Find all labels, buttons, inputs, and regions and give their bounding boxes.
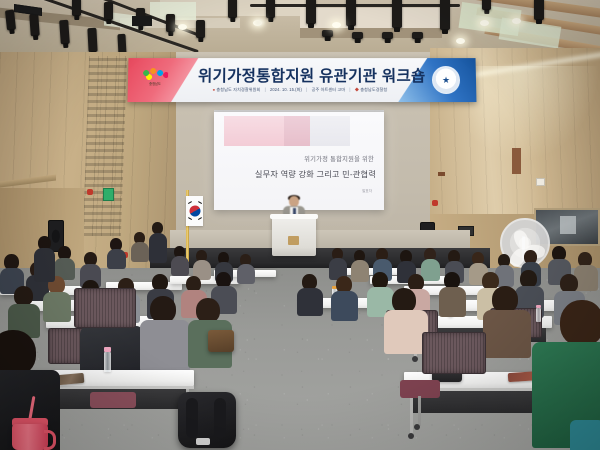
banner-sub-host: 충청남도경찰청 (360, 87, 387, 92)
attendee-body (483, 310, 531, 358)
slide-band (310, 116, 350, 146)
control-room-equipment (560, 216, 576, 234)
water-bottle (104, 352, 111, 372)
chair-post (418, 396, 421, 426)
stage-light (5, 10, 16, 31)
attendee-body (351, 260, 369, 282)
korean-flag-icon (186, 196, 203, 226)
chungnam-logo: 충청남도 (142, 68, 168, 90)
slide-band (224, 116, 284, 146)
wall-plaque (512, 148, 521, 174)
stage-light (440, 0, 450, 30)
downlight (480, 20, 489, 26)
banner-sub-org: 충청남도 자치경찰위원회 (216, 87, 260, 92)
chair-caster (414, 424, 420, 430)
stage-light (382, 32, 393, 39)
stage-light (228, 0, 237, 18)
handbag (208, 330, 234, 352)
slide-title-line-2: 실무자 역량 강화 그리고 민-관협력 (214, 168, 376, 180)
stage-light (322, 30, 333, 37)
event-banner: 충청남도 ★ 위기가정통합지원 유관기관 워크숍 ● 충청남도 자치경찰위원회 … (128, 58, 477, 102)
stage-light (392, 0, 402, 28)
colorful-dots-logo-icon (142, 68, 168, 80)
attendee-body (131, 242, 149, 262)
banner-subtitle: ● 충청남도 자치경찰위원회 | 2024. 10. 15.(화) | 공주 아… (200, 87, 400, 93)
attendee-body (297, 288, 323, 316)
ceiling-slab (300, 8, 450, 30)
wall-light-wash (470, 66, 600, 161)
attendee-body (439, 287, 466, 317)
backpack-buckle (196, 438, 210, 445)
podium-emblem-icon (288, 236, 299, 245)
table-caster (408, 433, 414, 439)
attendee-body (34, 248, 55, 282)
banner-sub-logo-icon: ● (213, 87, 216, 92)
stage-light (72, 0, 81, 16)
stage-light (166, 14, 175, 32)
attendee-body (237, 264, 255, 284)
backpack-strap (186, 398, 198, 438)
attendee-body (421, 259, 440, 281)
banner-sub-emblem-icon: ◆ (355, 87, 359, 92)
fire-alarm-icon (432, 200, 438, 206)
slide-presenter-name: 발표자 (362, 189, 372, 194)
chair-backrest (422, 332, 486, 374)
attendee-head (560, 300, 600, 346)
banner-sub-venue: 공주 아트센터 고마 (312, 87, 345, 92)
stage-light (412, 32, 423, 39)
backpack-strap (214, 398, 226, 438)
attendee-head (492, 286, 518, 313)
wall-outlet (536, 178, 545, 186)
attendee-head (150, 296, 176, 323)
attendee-body (331, 291, 358, 321)
attendee-head (14, 286, 33, 306)
police-emblem-icon: ★ (432, 66, 461, 94)
wall-mount-box (132, 16, 152, 26)
slide-title-line-1: 위기가정 통합지원을 위한 (214, 154, 374, 163)
stage-backdrop (170, 230, 470, 250)
stage-light (534, 0, 544, 20)
wall-plaque (438, 172, 445, 176)
light-glow (254, 19, 264, 26)
chair-seat (90, 392, 136, 408)
stage-light (59, 20, 70, 45)
attendee-bag (570, 420, 600, 450)
tumbler-handle (44, 430, 56, 450)
stage-light (306, 0, 316, 24)
banner-left-logo-caption: 충청남도 (142, 81, 168, 86)
banner-title: 위기가정통합지원 유관기관 워크숍 (198, 64, 402, 86)
exit-sign-icon (103, 188, 114, 201)
downlight (456, 38, 465, 44)
stage-light (87, 28, 97, 52)
bottle-cap (104, 347, 111, 352)
auditorium-photo: 충청남도 ★ 위기가정통합지원 유관기관 워크숍 ● 충청남도 자치경찰위원회 … (0, 0, 600, 450)
stage-light (352, 32, 363, 39)
slide-band (284, 116, 310, 146)
stage-light (196, 20, 205, 38)
attendee-body (171, 256, 189, 276)
table-caster (412, 356, 418, 362)
stage-light (29, 14, 40, 37)
stage-light (346, 0, 356, 26)
attendee-body (107, 249, 126, 269)
attendee-body (149, 233, 167, 263)
bottle-cap (536, 305, 541, 308)
banner-sub-date: 2024. 10. 15.(화) (270, 87, 302, 92)
downlight (178, 24, 187, 30)
downlight (512, 18, 521, 24)
podium-top (270, 214, 318, 219)
brick-column (83, 56, 127, 236)
fire-alarm-icon (87, 189, 93, 195)
stage-light (482, 0, 491, 10)
pink-tumbler (12, 424, 48, 450)
taeguk-circle (187, 203, 202, 218)
attendee-body (140, 320, 190, 372)
water-bottle (536, 308, 541, 322)
downlight (332, 22, 341, 28)
stage-light (266, 0, 275, 18)
stage-light (104, 2, 113, 20)
chair-backrest (74, 288, 136, 328)
attendee-body (43, 292, 71, 322)
